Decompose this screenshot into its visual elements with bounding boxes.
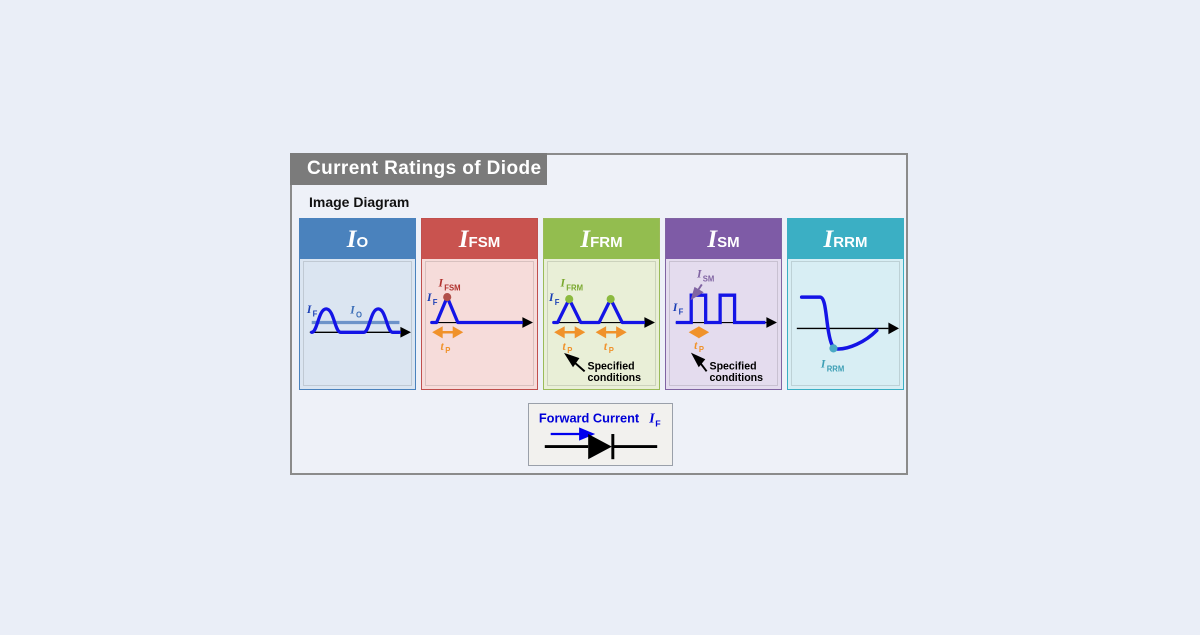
svg-text:P: P (699, 345, 704, 354)
panel-ism[interactable]: ISM I SM I F (665, 218, 782, 390)
svg-text:t: t (694, 339, 698, 352)
svg-text:F: F (313, 310, 318, 319)
svg-text:F: F (555, 298, 560, 307)
svg-text:SM: SM (703, 274, 715, 283)
panel-ifrm-body: I FRM I F t P t P (547, 261, 656, 386)
svg-text:conditions: conditions (588, 372, 642, 384)
panel-ifsm-body: I FSM I F t P (425, 261, 534, 386)
svg-text:F: F (679, 308, 684, 317)
svg-text:I: I (672, 301, 678, 314)
svg-text:FRM: FRM (566, 283, 583, 292)
svg-text:Forward Current: Forward Current (539, 411, 640, 425)
svg-text:RRM: RRM (827, 364, 845, 373)
waveform-ifrm: I FRM I F t P t P (548, 262, 655, 385)
svg-text:Specified: Specified (588, 360, 635, 372)
svg-text:P: P (567, 346, 572, 355)
svg-text:I: I (548, 291, 554, 304)
panel-irrm-header: IRRM (788, 219, 903, 259)
panel-ifsm-header: IFSM (422, 219, 537, 259)
panel-ifrm-header: IFRM (544, 219, 659, 259)
svg-text:F: F (433, 298, 438, 307)
diagram-stage: Current Ratings of Diode Image Diagram I… (0, 0, 1200, 635)
svg-text:Specified: Specified (710, 360, 757, 372)
panel-irrm-body: I RRM (791, 261, 900, 386)
svg-text:F: F (655, 418, 661, 428)
svg-text:I: I (306, 303, 312, 316)
svg-text:conditions: conditions (710, 372, 764, 384)
svg-text:FSM: FSM (444, 283, 460, 292)
panel-ism-title: ISM (707, 227, 739, 252)
legend-forward-current: Forward Current I F (528, 403, 673, 466)
legend-diode-symbol: Forward Current I F (529, 404, 672, 465)
panel-io-title: IO (347, 227, 368, 252)
svg-text:t: t (562, 340, 566, 353)
panel-ism-header: ISM (666, 219, 781, 259)
page-title: Current Ratings of Diode (290, 158, 541, 180)
panel-ism-body: I SM I F t P (669, 261, 778, 386)
panel-ifrm-title: IFRM (580, 227, 622, 252)
panel-io-header: IO (300, 219, 415, 259)
svg-text:t: t (440, 340, 444, 353)
waveform-io: I F I O (304, 262, 411, 385)
svg-text:P: P (609, 346, 614, 355)
svg-text:I: I (560, 276, 566, 289)
waveform-irrm: I RRM (792, 262, 899, 385)
panel-irrm[interactable]: IRRM I RRM (787, 218, 904, 390)
svg-text:P: P (445, 346, 450, 355)
panel-ifsm-title: IFSM (459, 227, 500, 252)
svg-text:I: I (820, 357, 826, 370)
svg-text:t: t (604, 340, 608, 353)
waveform-ism: I SM I F t P (670, 262, 777, 385)
panel-io[interactable]: IO I F I O (299, 218, 416, 390)
panel-ifsm[interactable]: IFSM I FSM I F t (421, 218, 538, 390)
svg-text:I: I (349, 304, 355, 317)
section-label: Image Diagram (309, 194, 409, 210)
svg-text:I: I (426, 291, 432, 304)
panel-irrm-title: IRRM (824, 227, 868, 252)
panel-io-body: I F I O (303, 261, 412, 386)
card-title-tab: Current Ratings of Diode (290, 153, 547, 185)
svg-text:I: I (696, 268, 702, 281)
waveform-ifsm: I FSM I F t P (426, 262, 533, 385)
svg-text:I: I (438, 276, 444, 289)
svg-text:O: O (356, 311, 362, 320)
panel-ifrm[interactable]: IFRM I FRM I F (543, 218, 660, 390)
